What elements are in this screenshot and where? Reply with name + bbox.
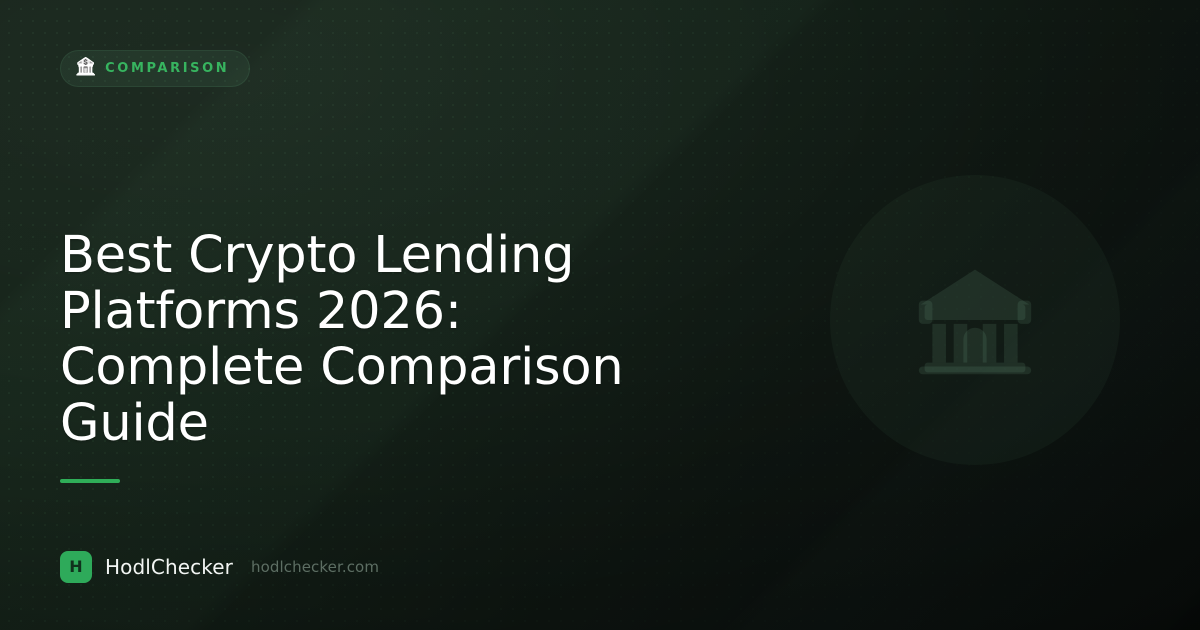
- brand-url: hodlchecker.com: [251, 558, 379, 576]
- page-title: Best Crypto Lending Platforms 2026: Comp…: [60, 228, 700, 451]
- category-badge-label: COMPARISON: [105, 61, 229, 76]
- category-badge: 🏦 COMPARISON: [60, 50, 250, 87]
- hero-emblem-circle: [830, 175, 1120, 465]
- title-accent-rule: [60, 479, 120, 483]
- footer-branding: H HodlChecker hodlchecker.com: [60, 551, 379, 583]
- social-card: 🏦 COMPARISON Best Crypto Lending Platfor…: [0, 0, 1200, 630]
- brand-name: HodlChecker: [105, 555, 233, 579]
- title-block: Best Crypto Lending Platforms 2026: Comp…: [60, 228, 700, 483]
- brand-logo: H: [60, 551, 92, 583]
- bank-building-icon: [913, 258, 1037, 382]
- bank-icon: 🏦: [75, 59, 96, 76]
